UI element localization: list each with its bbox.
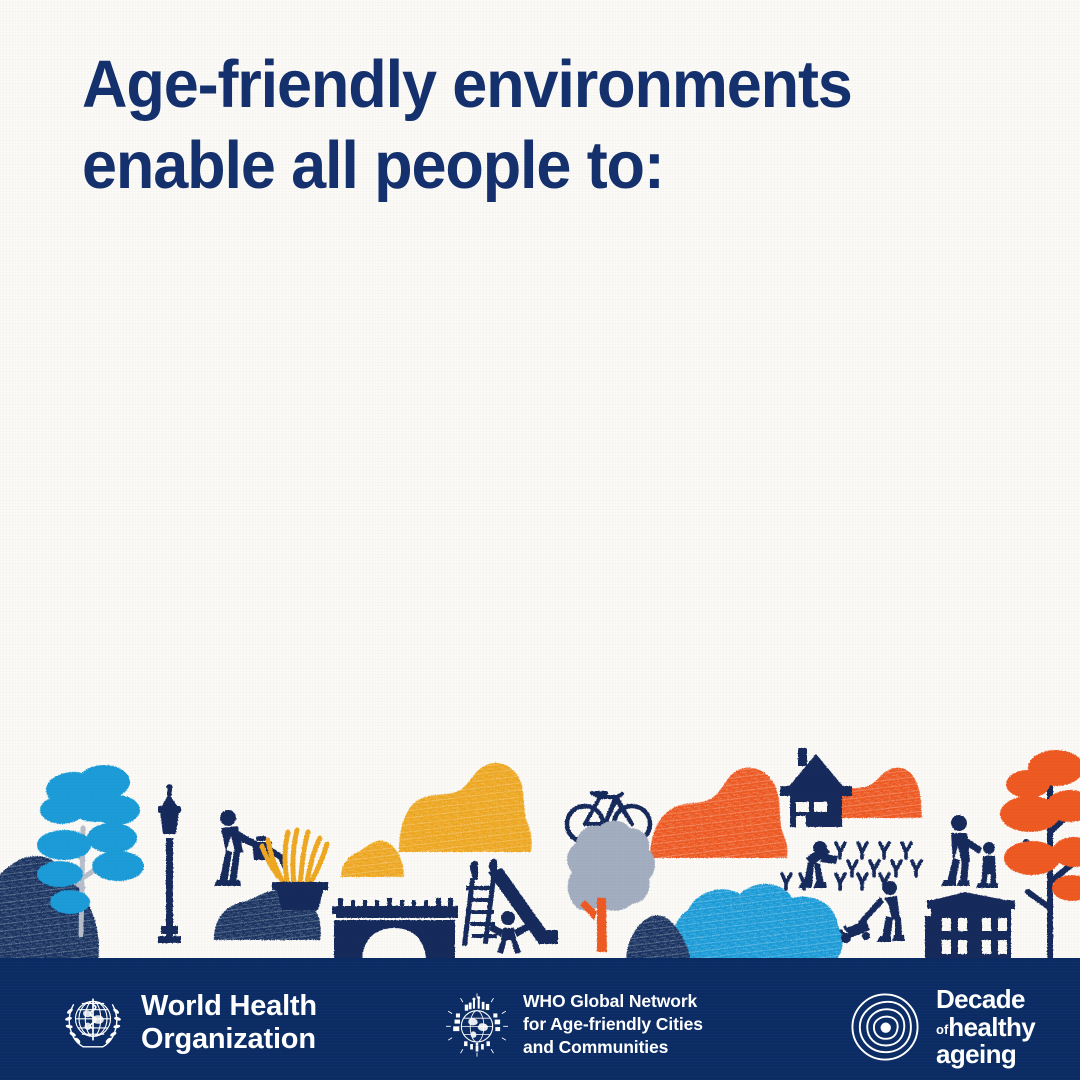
orange-hill-left [650, 768, 788, 858]
decade-healthy-label: healthy [948, 1012, 1035, 1042]
footer-bar: World Health Organization [0, 962, 1080, 1080]
page-title: Age-friendly environments enable all peo… [82, 44, 928, 206]
decade-logo: Decade ofhealthy ageing [848, 986, 1035, 1069]
amber-hill-large [399, 763, 532, 852]
navy-apartment-building [925, 892, 1015, 962]
decade-rings-icon [848, 990, 922, 1064]
crop-rows [782, 843, 921, 889]
global-network-globe-icon [443, 991, 511, 1059]
global-network-logo-text: WHO Global Network for Age-friendly Citi… [523, 990, 703, 1059]
decade-logo-text: Decade ofhealthy ageing [936, 986, 1035, 1069]
navy-house [780, 748, 852, 827]
adult-and-child-walking [941, 815, 998, 888]
amber-hill-small [341, 841, 404, 877]
orange-tree [1000, 750, 1080, 960]
decade-of-label: of [936, 1022, 948, 1037]
decade-line-1: Decade [936, 986, 1035, 1014]
blue-bush [672, 884, 843, 962]
who-logo: World Health Organization [58, 988, 317, 1058]
street-lamp [158, 784, 181, 943]
global-network-logo: WHO Global Network for Age-friendly Citi… [443, 990, 703, 1059]
poster-canvas: Age-friendly environments enable all peo… [0, 0, 1080, 1080]
decade-line-2: ofhealthy [936, 1014, 1035, 1042]
decade-line-3: ageing [936, 1041, 1035, 1069]
who-logo-text: World Health Organization [141, 990, 317, 1056]
who-emblem-icon [58, 988, 128, 1058]
person-mowing-lawn [840, 881, 905, 943]
stone-bridge [332, 898, 458, 962]
